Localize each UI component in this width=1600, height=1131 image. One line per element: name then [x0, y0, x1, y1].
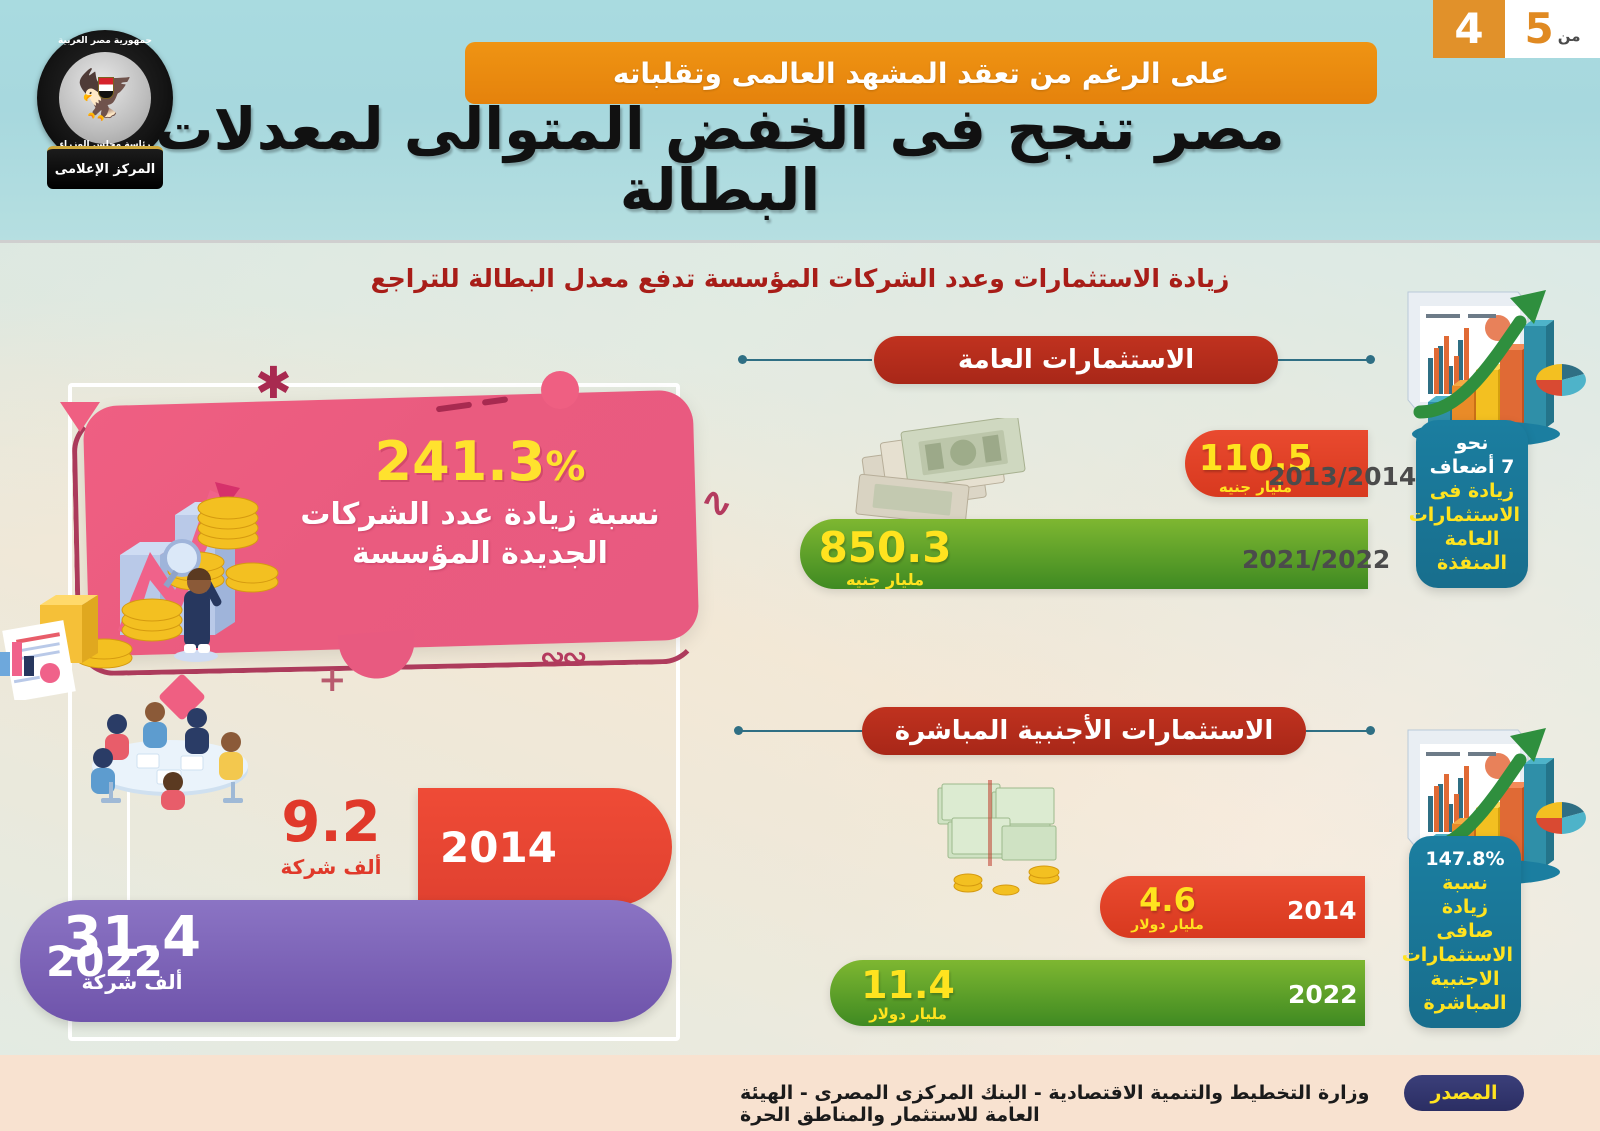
fdi-value-2014-unit: مليار دولار	[1105, 917, 1230, 933]
companies-value-2022: 31.4 ألف شركة	[52, 910, 212, 994]
fdi-period-2014: 2014	[1287, 896, 1357, 925]
wave-decoration: ∾∾	[540, 640, 584, 675]
public-investment-callout: نحو 7 أضعاف زيادة فى الاستثمارات العامة …	[1416, 420, 1528, 588]
fdi-title: الاستثمارات الأجنبية المباشرة	[862, 707, 1306, 755]
page-indicator-total-block: من 5	[1505, 0, 1600, 58]
public-investment-callout-line-6: المنفذة	[1424, 552, 1520, 576]
public-investment-callout-line-2: 7 أضعاف	[1424, 456, 1520, 480]
company-growth-caption: نسبة زيادة عدد الشركات الجديدة المؤسسة	[270, 495, 690, 573]
kicker-text: على الرغم من تعقد المشهد العالمى وتقلبات…	[613, 57, 1229, 90]
subtitle: زيادة الاستثمارات وعدد الشركات المؤسسة ت…	[0, 258, 1600, 298]
fdi-value-2022-unit: مليار دولار	[838, 1005, 978, 1023]
companies-value-2022-unit: ألف شركة	[52, 970, 212, 994]
pink-dot-decoration	[541, 371, 579, 409]
triangle-decoration	[60, 402, 100, 432]
page-indicator-current-block: 4	[1433, 0, 1505, 58]
company-growth-percent-value: 241.3	[375, 430, 546, 493]
public-investment-callout-line-4: الاستثمارات	[1424, 504, 1520, 528]
public-investment-title-text: الاستثمارات العامة	[958, 345, 1194, 375]
public-investment-callout-line-1: نحو	[1424, 432, 1520, 456]
fdi-period-2022: 2022	[1288, 980, 1358, 1009]
logo-arc-top-text: جمهورية مصر العربية	[37, 36, 173, 46]
fdi-callout-line-3: صافى	[1417, 920, 1513, 944]
source-badge: المصدر	[1404, 1075, 1524, 1111]
subtitle-text: زيادة الاستثمارات وعدد الشركات المؤسسة ت…	[371, 264, 1230, 293]
page-title: مصر تنجح فى الخفض المتوالى لمعدلات البطا…	[60, 110, 1380, 210]
fdi-callout-line-5: الاجنبية	[1417, 968, 1513, 992]
public-investment-callout-line-3: زيادة فى	[1424, 480, 1520, 504]
fdi-lead-line-left	[738, 730, 866, 732]
investment-growth-illustration	[0, 430, 320, 700]
fdi-title-text: الاستثمارات الأجنبية المباشرة	[895, 716, 1274, 746]
companies-bar-2014-year: 2014	[440, 823, 557, 872]
fdi-lead-line-right	[1306, 730, 1370, 732]
company-growth-percent: 241.3%	[270, 432, 690, 491]
banknotes-illustration	[855, 418, 1070, 528]
fdi-value-2014: 4.6 مليار دولار	[1105, 884, 1230, 933]
companies-value-2022-number: 31.4	[52, 910, 212, 966]
fdi-callout-line-6: المباشرة	[1417, 992, 1513, 1016]
percent-symbol: %	[545, 444, 585, 490]
fdi-callout: 147.8% نسبة زيادة صافى الاستثمارات الاجن…	[1409, 836, 1521, 1028]
infographic-page: جمهورية مصر العربية 🦅 رئاسة مجلس الوزراء…	[0, 0, 1600, 1131]
plus-decoration: +	[318, 660, 347, 700]
public-investment-value-2021-2022-number: 850.3	[810, 527, 960, 569]
header: جمهورية مصر العربية 🦅 رئاسة مجلس الوزراء…	[0, 0, 1600, 243]
fdi-value-2022-number: 11.4	[838, 966, 978, 1004]
fdi-callout-line-2: نسبة زيادة	[1417, 872, 1513, 920]
public-investment-lead-dot-left	[738, 355, 747, 364]
public-investment-period-2021-2022: 2021/2022	[1242, 545, 1390, 574]
fdi-callout-line-4: الاستثمارات	[1417, 944, 1513, 968]
page-indicator: من 5 4	[1433, 0, 1600, 58]
public-investment-value-2021-2022-unit: مليار جنيه	[810, 570, 960, 589]
public-investment-lead-line-right	[1278, 359, 1370, 361]
companies-value-2014-unit: ألف شركة	[256, 855, 406, 879]
egypt-flag-shield-icon	[98, 77, 114, 99]
fdi-lead-dot-left	[734, 726, 743, 735]
page-title-text: مصر تنجح فى الخفض المتوالى لمعدلات البطا…	[60, 99, 1380, 221]
company-growth-highlight: 241.3% نسبة زيادة عدد الشركات الجديدة ال…	[270, 432, 690, 573]
source-badge-text: المصدر	[1430, 1082, 1497, 1104]
fdi-value-2022: 11.4 مليار دولار	[838, 966, 978, 1023]
public-investment-value-2021-2022: 850.3 مليار جنيه	[810, 527, 960, 589]
asterisk-decoration: ✱	[255, 362, 292, 406]
public-investment-title: الاستثمارات العامة	[874, 336, 1278, 384]
public-investment-lead-line-left	[742, 359, 872, 361]
public-investment-period-2013-2014: 2013/2014	[1268, 462, 1416, 491]
fdi-value-2014-number: 4.6	[1105, 884, 1230, 916]
companies-bar-2014: 2014	[418, 788, 672, 906]
public-investment-callout-line-5: العامة	[1424, 528, 1520, 552]
page-indicator-of-label: من	[1558, 13, 1581, 45]
source-text: وزارة التخطيط والتنمية الاقتصادية - البن…	[740, 1082, 1390, 1126]
dollar-bundles-illustration	[920, 770, 1080, 905]
fdi-callout-line-1: 147.8%	[1417, 848, 1513, 872]
page-indicator-current: 4	[1454, 8, 1483, 50]
page-indicator-total: 5	[1524, 8, 1553, 50]
team-meeting-illustration	[45, 690, 295, 810]
